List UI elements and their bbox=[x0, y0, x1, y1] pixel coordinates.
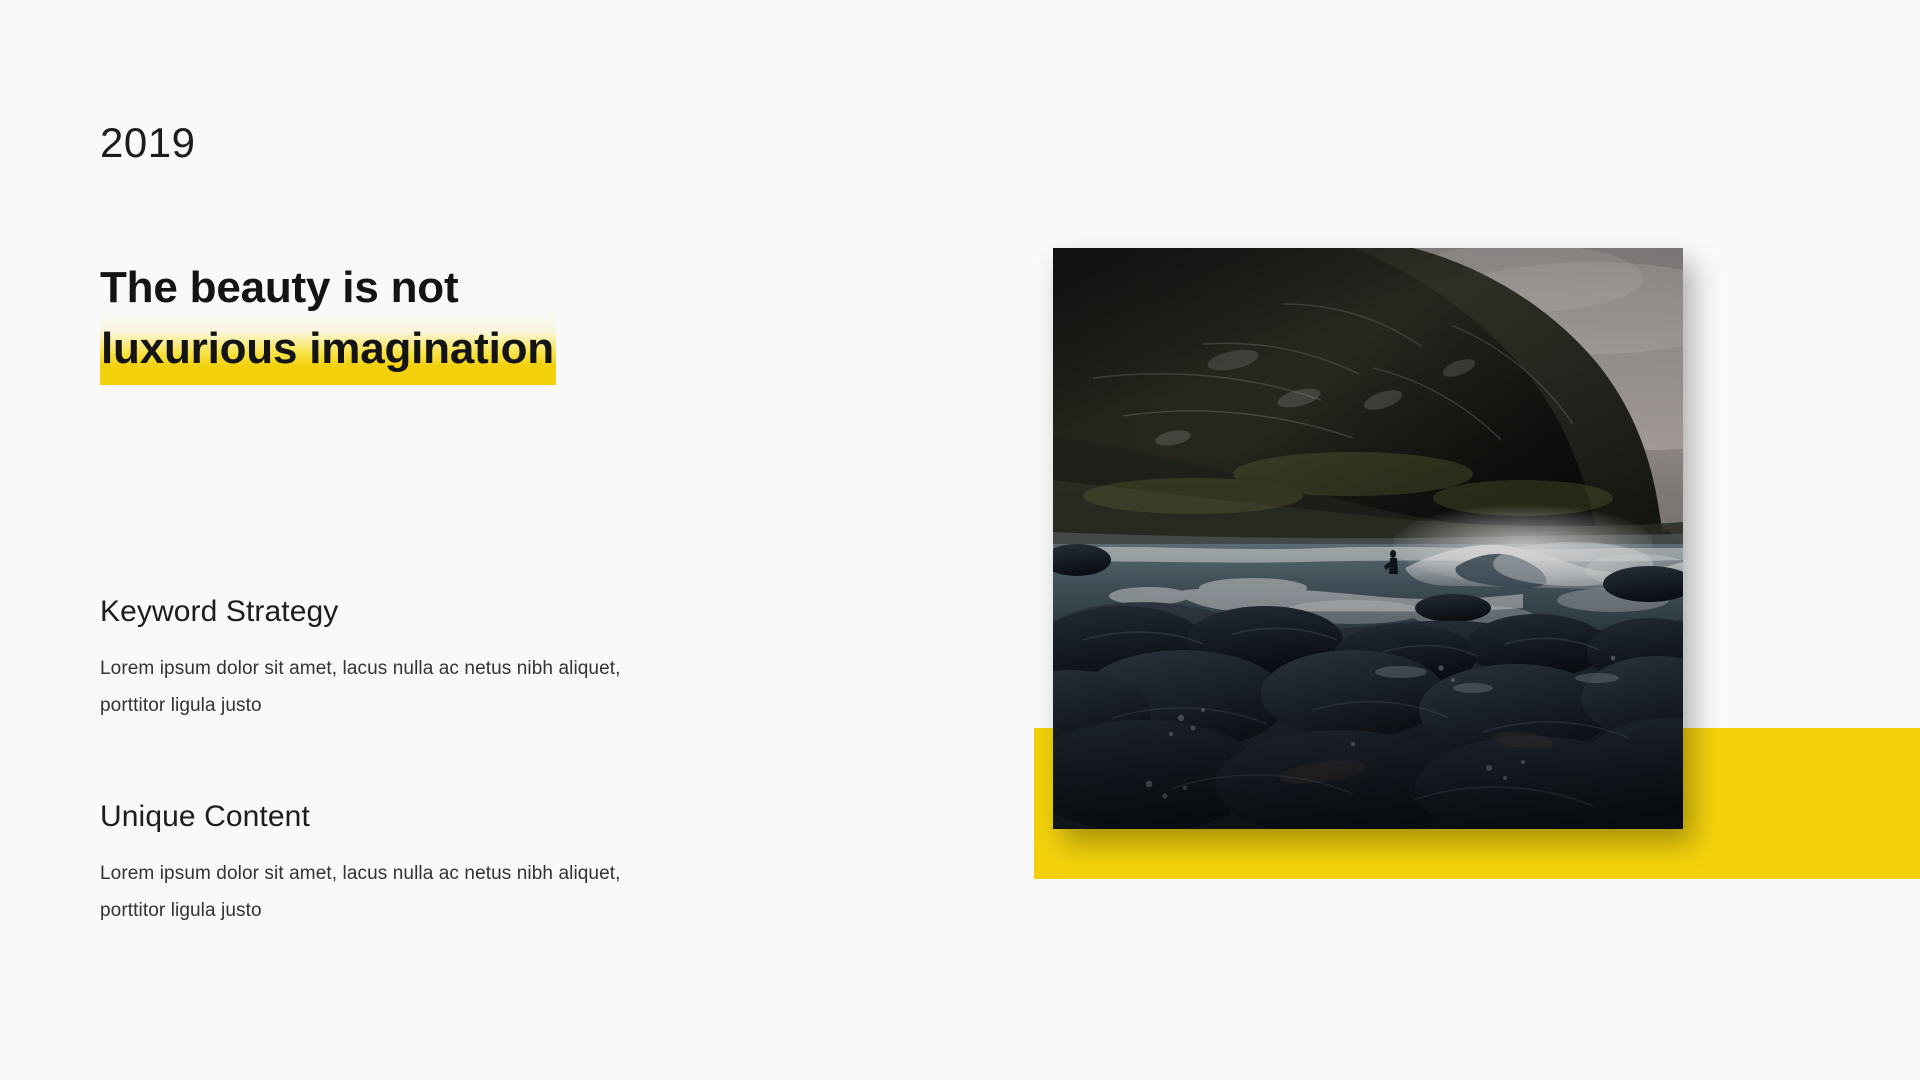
photo-frame bbox=[1053, 248, 1683, 829]
coastal-cliff-surfer-photo bbox=[1053, 248, 1683, 829]
text-column: 2019 The beauty is not luxurious imagina… bbox=[100, 0, 820, 1080]
section-unique-content: Unique Content Lorem ipsum dolor sit ame… bbox=[100, 800, 700, 929]
year-label: 2019 bbox=[100, 122, 195, 164]
headline-line-2: luxurious imagination bbox=[101, 324, 554, 373]
page-title: The beauty is not luxurious imagination bbox=[100, 258, 556, 379]
section-title-keyword-strategy: Keyword Strategy bbox=[100, 595, 700, 628]
section-keyword-strategy: Keyword Strategy Lorem ipsum dolor sit a… bbox=[100, 595, 700, 724]
section-title-unique-content: Unique Content bbox=[100, 800, 700, 833]
headline-line-2-highlight: luxurious imagination bbox=[100, 319, 556, 380]
headline-line-1: The beauty is not bbox=[100, 258, 556, 319]
section-body-keyword-strategy: Lorem ipsum dolor sit amet, lacus nulla … bbox=[100, 650, 680, 724]
section-body-unique-content: Lorem ipsum dolor sit amet, lacus nulla … bbox=[100, 855, 680, 929]
slide-canvas: 2019 The beauty is not luxurious imagina… bbox=[0, 0, 1920, 1080]
